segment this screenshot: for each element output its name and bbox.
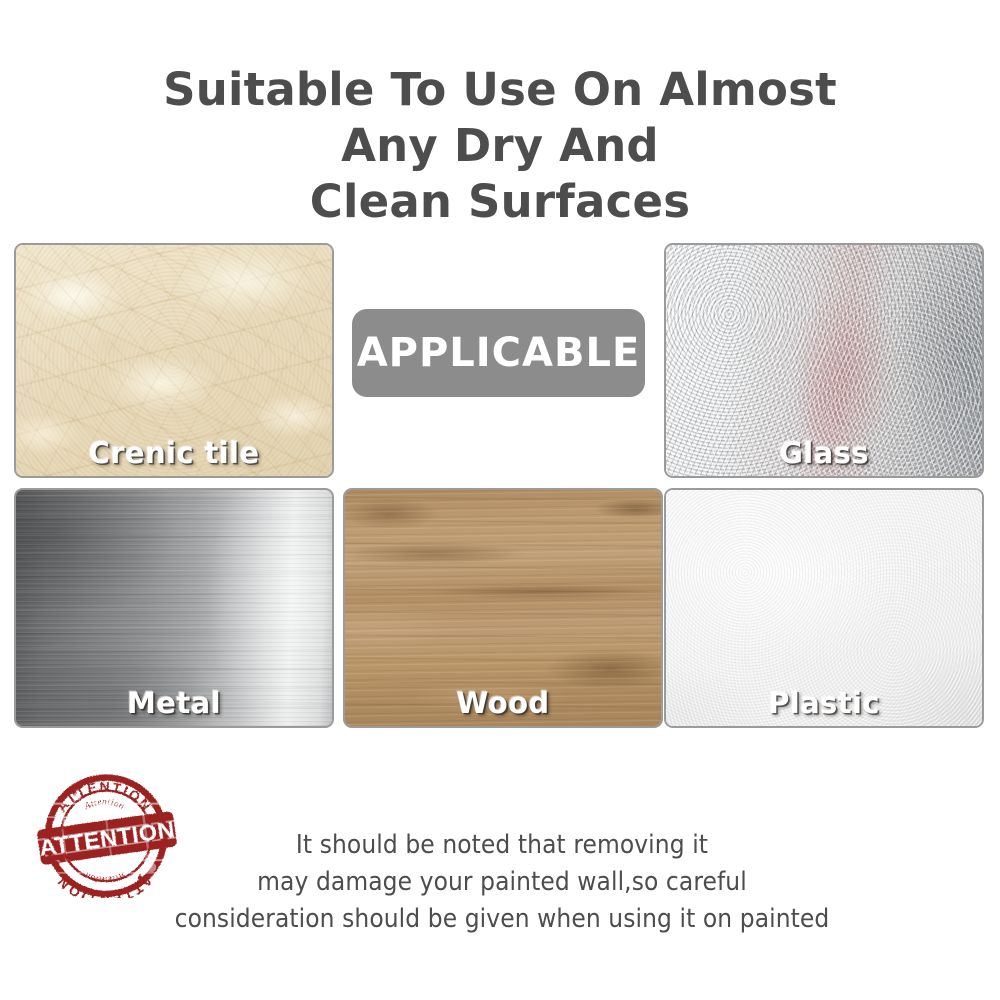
page-title-line-1: Suitable To Use On Almost (0, 62, 1000, 118)
warning-note-line-2: may damage your painted wall,so careful (82, 864, 922, 901)
surface-label-glass: Glass (666, 436, 982, 470)
surface-tile-metal: Metal (14, 488, 334, 728)
warning-note: It should be noted that removing it may … (82, 827, 922, 938)
warning-note-line-1: It should be noted that removing it (82, 827, 922, 864)
svg-text:Attention: Attention (82, 796, 127, 811)
page-title-line-2: Any Dry And (0, 118, 1000, 174)
applicable-badge: APPLICABLE (352, 309, 645, 397)
applicable-badge-label: APPLICABLE (357, 333, 641, 373)
surface-label-crenic-tile: Crenic tile (16, 436, 332, 470)
surface-tile-crenic-tile: Crenic tile (14, 243, 334, 478)
surface-tile-glass: Glass (664, 243, 984, 478)
surface-label-wood: Wood (345, 686, 661, 720)
surface-label-metal: Metal (16, 686, 332, 720)
surface-tile-wood: Wood (343, 488, 663, 728)
infographic-page: Suitable To Use On Almost Any Dry And Cl… (0, 0, 1000, 1000)
surface-tile-plastic: Plastic (664, 488, 984, 728)
surface-label-plastic: Plastic (666, 686, 982, 720)
page-title: Suitable To Use On Almost Any Dry And Cl… (0, 62, 1000, 230)
warning-note-line-3: consideration should be given when using… (82, 901, 922, 938)
page-title-line-3: Clean Surfaces (0, 174, 1000, 230)
